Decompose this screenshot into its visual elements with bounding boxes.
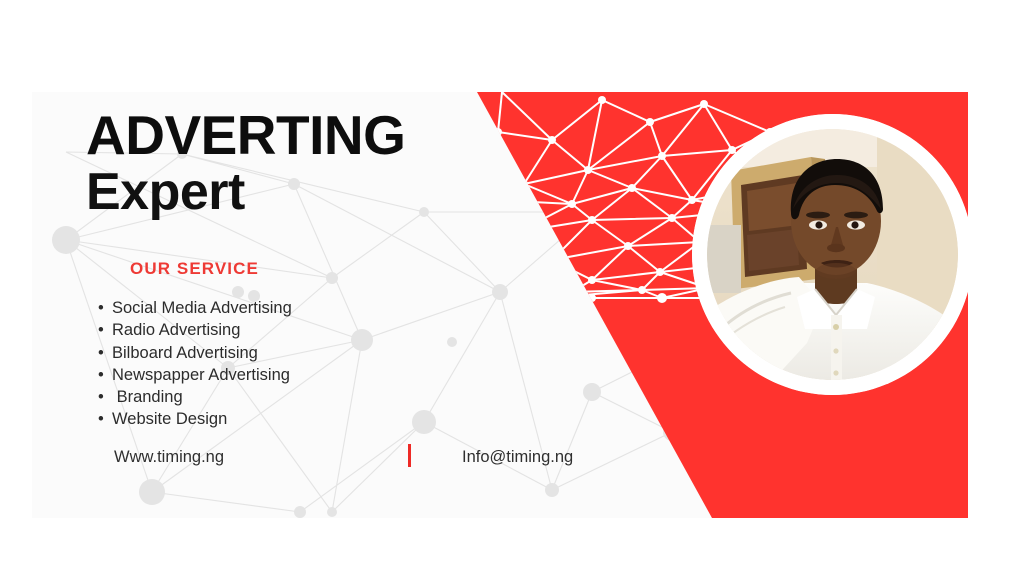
advertising-banner: ADVERTING Expert OUR SERVICE Social Medi… [32,92,968,518]
email-link[interactable]: Info@timing.ng [462,448,573,467]
website-link[interactable]: Www.timing.ng [114,448,224,467]
contact-divider [408,444,411,467]
services-list: Social Media Advertising Radio Advertisi… [86,297,516,430]
contact-row: Www.timing.ng Info@timing.ng [86,444,516,474]
page-subtitle: Expert [86,163,516,221]
list-item: Branding [98,386,516,408]
list-item: Newspapper Advertising [98,364,516,386]
content-column: ADVERTING Expert OUR SERVICE Social Medi… [86,108,516,474]
list-item: Website Design [98,408,516,430]
list-item: Social Media Advertising [98,297,516,319]
portrait-photo [707,129,958,380]
list-item: Radio Advertising [98,319,516,341]
avatar [692,114,968,395]
services-heading: OUR SERVICE [130,259,516,279]
list-item: Bilboard Advertising [98,342,516,364]
page-title: ADVERTING [86,108,516,163]
screenshot-canvas: ADVERTING Expert OUR SERVICE Social Medi… [0,0,1024,576]
